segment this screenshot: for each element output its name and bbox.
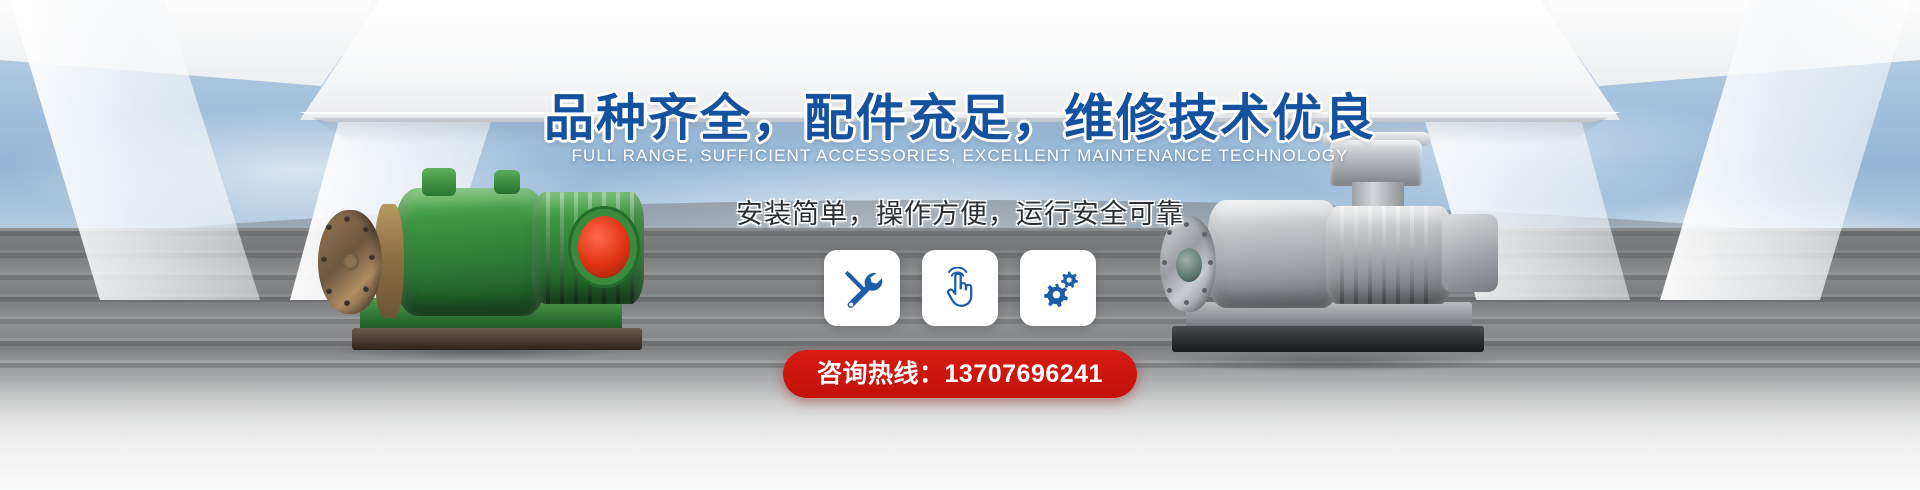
feature-card-operation[interactable]	[922, 250, 998, 326]
banner-subtitle-english: FULL RANGE, SUFFICIENT ACCESSORIES, EXCE…	[0, 146, 1920, 166]
banner-subtitle-chinese: 安装简单，操作方便，运行安全可靠	[0, 192, 1920, 231]
hand-pointer-icon	[939, 267, 981, 309]
feature-card-tools[interactable]	[824, 250, 900, 326]
promo-banner: 品种齐全，配件充足，维修技术优良 FULL RANGE, SUFFICIENT …	[0, 0, 1920, 490]
banner-content: 品种齐全，配件充足，维修技术优良 FULL RANGE, SUFFICIENT …	[0, 0, 1920, 490]
feature-card-parts[interactable]	[1020, 250, 1096, 326]
feature-icon-row	[0, 250, 1920, 326]
tools-icon	[841, 267, 883, 309]
banner-headline: 品种齐全，配件充足，维修技术优良	[0, 78, 1920, 150]
gears-icon	[1037, 267, 1079, 309]
hotline-button[interactable]: 咨询热线：13707696241	[783, 350, 1137, 398]
